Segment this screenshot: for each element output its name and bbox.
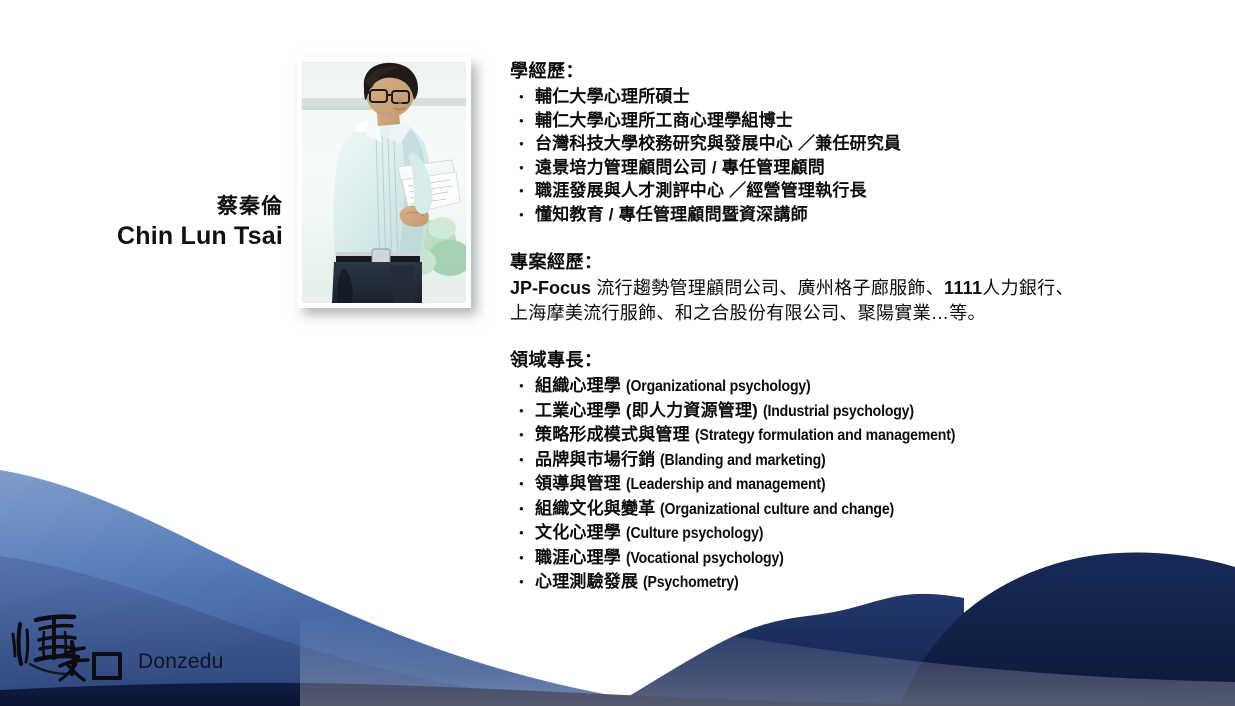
list-item: 職涯發展與人才測評中心 ／經營管理執行長: [510, 179, 1210, 203]
brand-logo: Donzedu: [10, 604, 260, 690]
expertise-label-en: (Strategy formulation and management): [695, 424, 955, 448]
list-item: 品牌與市場行銷 (Blanding and marketing): [510, 448, 1210, 473]
projects-heading: 專案經歷：: [510, 248, 1210, 276]
profile-content: 學經歷： 輔仁大學心理所碩士 輔仁大學心理所工商心理學組博士 台灣科技大學校務研…: [510, 57, 1210, 595]
list-item: 懂知教育 / 專任管理顧問暨資深講師: [510, 203, 1210, 227]
expertise-heading: 領域專長：: [510, 346, 1210, 374]
person-name-chinese: 蔡秦倫: [40, 193, 283, 221]
expertise-list: 組織心理學 (Organizational psychology) 工業心理學 …: [510, 374, 1210, 595]
projects-line-1: JP-Focus 流行趨勢管理顧問公司、廣州格子廊服飾、1111人力銀行、: [510, 276, 1210, 301]
education-section: 學經歷： 輔仁大學心理所碩士 輔仁大學心理所工商心理學組博士 台灣科技大學校務研…: [510, 57, 1210, 226]
education-heading: 學經歷：: [510, 57, 1210, 85]
portrait-photo-frame: [297, 57, 471, 308]
person-name-english: Chin Lun Tsai: [40, 221, 283, 251]
projects-section: 專案經歷： JP-Focus 流行趨勢管理顧問公司、廣州格子廊服飾、1111人力…: [510, 248, 1210, 326]
list-item: 遠景培力管理顧問公司 / 專任管理顧問: [510, 156, 1210, 180]
expertise-label-cn: 品牌與市場行銷: [535, 450, 655, 469]
list-item: 台灣科技大學校務研究與發展中心 ／兼任研究員: [510, 132, 1210, 156]
list-item: 組織心理學 (Organizational psychology): [510, 374, 1210, 399]
spacer: [510, 226, 1210, 248]
expertise-label-cn: 策略形成模式與管理: [535, 425, 690, 444]
expertise-label-en: (Organizational culture and change): [660, 498, 894, 522]
expertise-label-en: (Industrial psychology): [763, 400, 914, 424]
projects-client-jpfocus: JP-Focus: [510, 278, 591, 298]
list-item: 輔仁大學心理所工商心理學組博士: [510, 109, 1210, 133]
list-item: 文化心理學 (Culture psychology): [510, 521, 1210, 546]
mountain-ridge-center: [612, 594, 964, 706]
list-item: 組織文化與變革 (Organizational culture and chan…: [510, 497, 1210, 522]
expertise-label-en: (Culture psychology): [626, 522, 763, 546]
expertise-label-cn: 組織心理學: [535, 376, 621, 395]
expertise-label-en: (Leadership and management): [626, 473, 825, 497]
expertise-label-cn: 組織文化與變革: [535, 499, 655, 518]
expertise-label-en: (Psychometry): [643, 571, 739, 595]
expertise-label-cn: 心理測驗發展: [535, 572, 638, 591]
list-item: 心理測驗發展 (Psychometry): [510, 570, 1210, 595]
expertise-label-cn: 文化心理學: [535, 523, 621, 542]
projects-line-2: 上海摩美流行服飾、和之合股份有限公司、聚陽實業…等。: [510, 301, 1210, 326]
valley-haze: [300, 611, 1235, 706]
projects-line-1-rest: 流行趨勢管理顧問公司、廣州格子廊服飾、: [591, 278, 944, 298]
projects-client-1111: 1111: [944, 278, 982, 298]
expertise-label-cn: 工業心理學 (即人力資源管理): [535, 401, 758, 420]
person-name-block: 蔡秦倫 Chin Lun Tsai: [40, 193, 283, 251]
expertise-section: 領域專長： 組織心理學 (Organizational psychology) …: [510, 346, 1210, 595]
donzedu-calligraphy-icon: [10, 604, 128, 684]
projects-body: JP-Focus 流行趨勢管理顧問公司、廣州格子廊服飾、1111人力銀行、 上海…: [510, 276, 1210, 326]
list-item: 領導與管理 (Leadership and management): [510, 472, 1210, 497]
expertise-label-en: (Vocational psychology): [626, 547, 784, 571]
list-item: 職涯心理學 (Vocational psychology): [510, 546, 1210, 571]
portrait-photo: [302, 62, 466, 303]
expertise-label-en: (Blanding and marketing): [660, 449, 826, 473]
expertise-label-en: (Organizational psychology): [626, 375, 811, 399]
slide-canvas: 蔡秦倫 Chin Lun Tsai 學經歷： 輔仁大學心理所碩士 輔仁大學心理所…: [0, 0, 1235, 706]
list-item: 工業心理學 (即人力資源管理) (Industrial psychology): [510, 399, 1210, 424]
list-item: 策略形成模式與管理 (Strategy formulation and mana…: [510, 423, 1210, 448]
brand-wordmark: Donzedu: [138, 650, 223, 674]
spacer: [510, 326, 1210, 346]
projects-line-1-tail: 人力銀行、: [982, 278, 1074, 298]
list-item: 輔仁大學心理所碩士: [510, 85, 1210, 109]
education-list: 輔仁大學心理所碩士 輔仁大學心理所工商心理學組博士 台灣科技大學校務研究與發展中…: [510, 85, 1210, 226]
expertise-label-cn: 領導與管理: [535, 474, 621, 493]
expertise-label-cn: 職涯心理學: [535, 548, 621, 567]
